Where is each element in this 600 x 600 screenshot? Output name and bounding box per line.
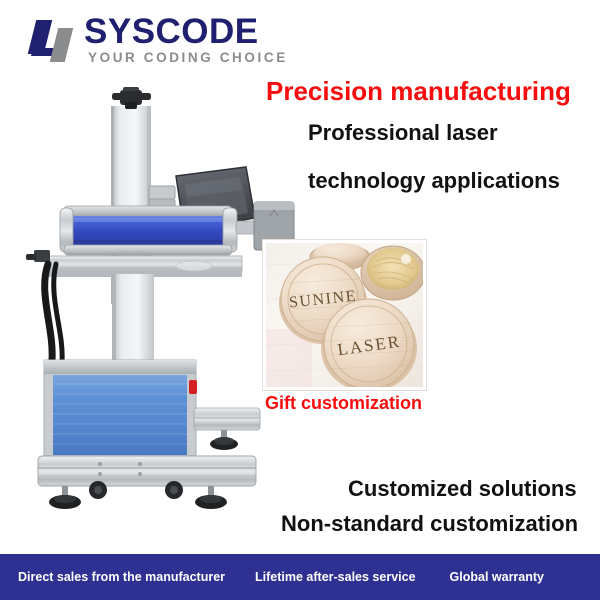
syscode-logo-icon bbox=[28, 20, 80, 64]
product-image-laser-marking-machine bbox=[8, 78, 298, 548]
footer-item-global-warranty: Global warranty bbox=[450, 571, 544, 584]
machine-cabinet bbox=[44, 360, 197, 464]
brand-tagline: YOUR CODING CHOICE bbox=[88, 51, 288, 65]
footer-item-direct-sales: Direct sales from the manufacturer bbox=[18, 571, 225, 584]
inset-caption: Gift customization bbox=[265, 394, 422, 412]
tagline-customized-solutions: Customized solutions bbox=[348, 478, 577, 500]
headline-secondary-line-1: Professional laser bbox=[308, 122, 498, 144]
engraved-coasters-photo: SUNINE LASER bbox=[266, 243, 423, 387]
logo-bar-gray bbox=[50, 28, 73, 62]
headline-primary: Precision manufacturing bbox=[266, 78, 571, 104]
headline-secondary-line-2: technology applications bbox=[308, 170, 560, 192]
column-knob bbox=[112, 87, 151, 109]
footer-item-after-sales: Lifetime after-sales service bbox=[255, 571, 416, 584]
brand-logo: SYSCODE YOUR CODING CHOICE bbox=[28, 14, 298, 72]
promo-poster: SYSCODE YOUR CODING CHOICE Precision man… bbox=[0, 0, 600, 600]
brand-name: SYSCODE bbox=[84, 14, 259, 49]
tagline-non-standard-customization: Non-standard customization bbox=[281, 513, 578, 535]
footer-banner: Direct sales from the manufacturer Lifet… bbox=[0, 554, 600, 600]
laser-tube bbox=[60, 206, 258, 255]
cabinet-indicator bbox=[189, 380, 197, 394]
machine-illustration bbox=[8, 78, 298, 548]
inset-sample-photo: SUNINE LASER bbox=[263, 240, 426, 390]
